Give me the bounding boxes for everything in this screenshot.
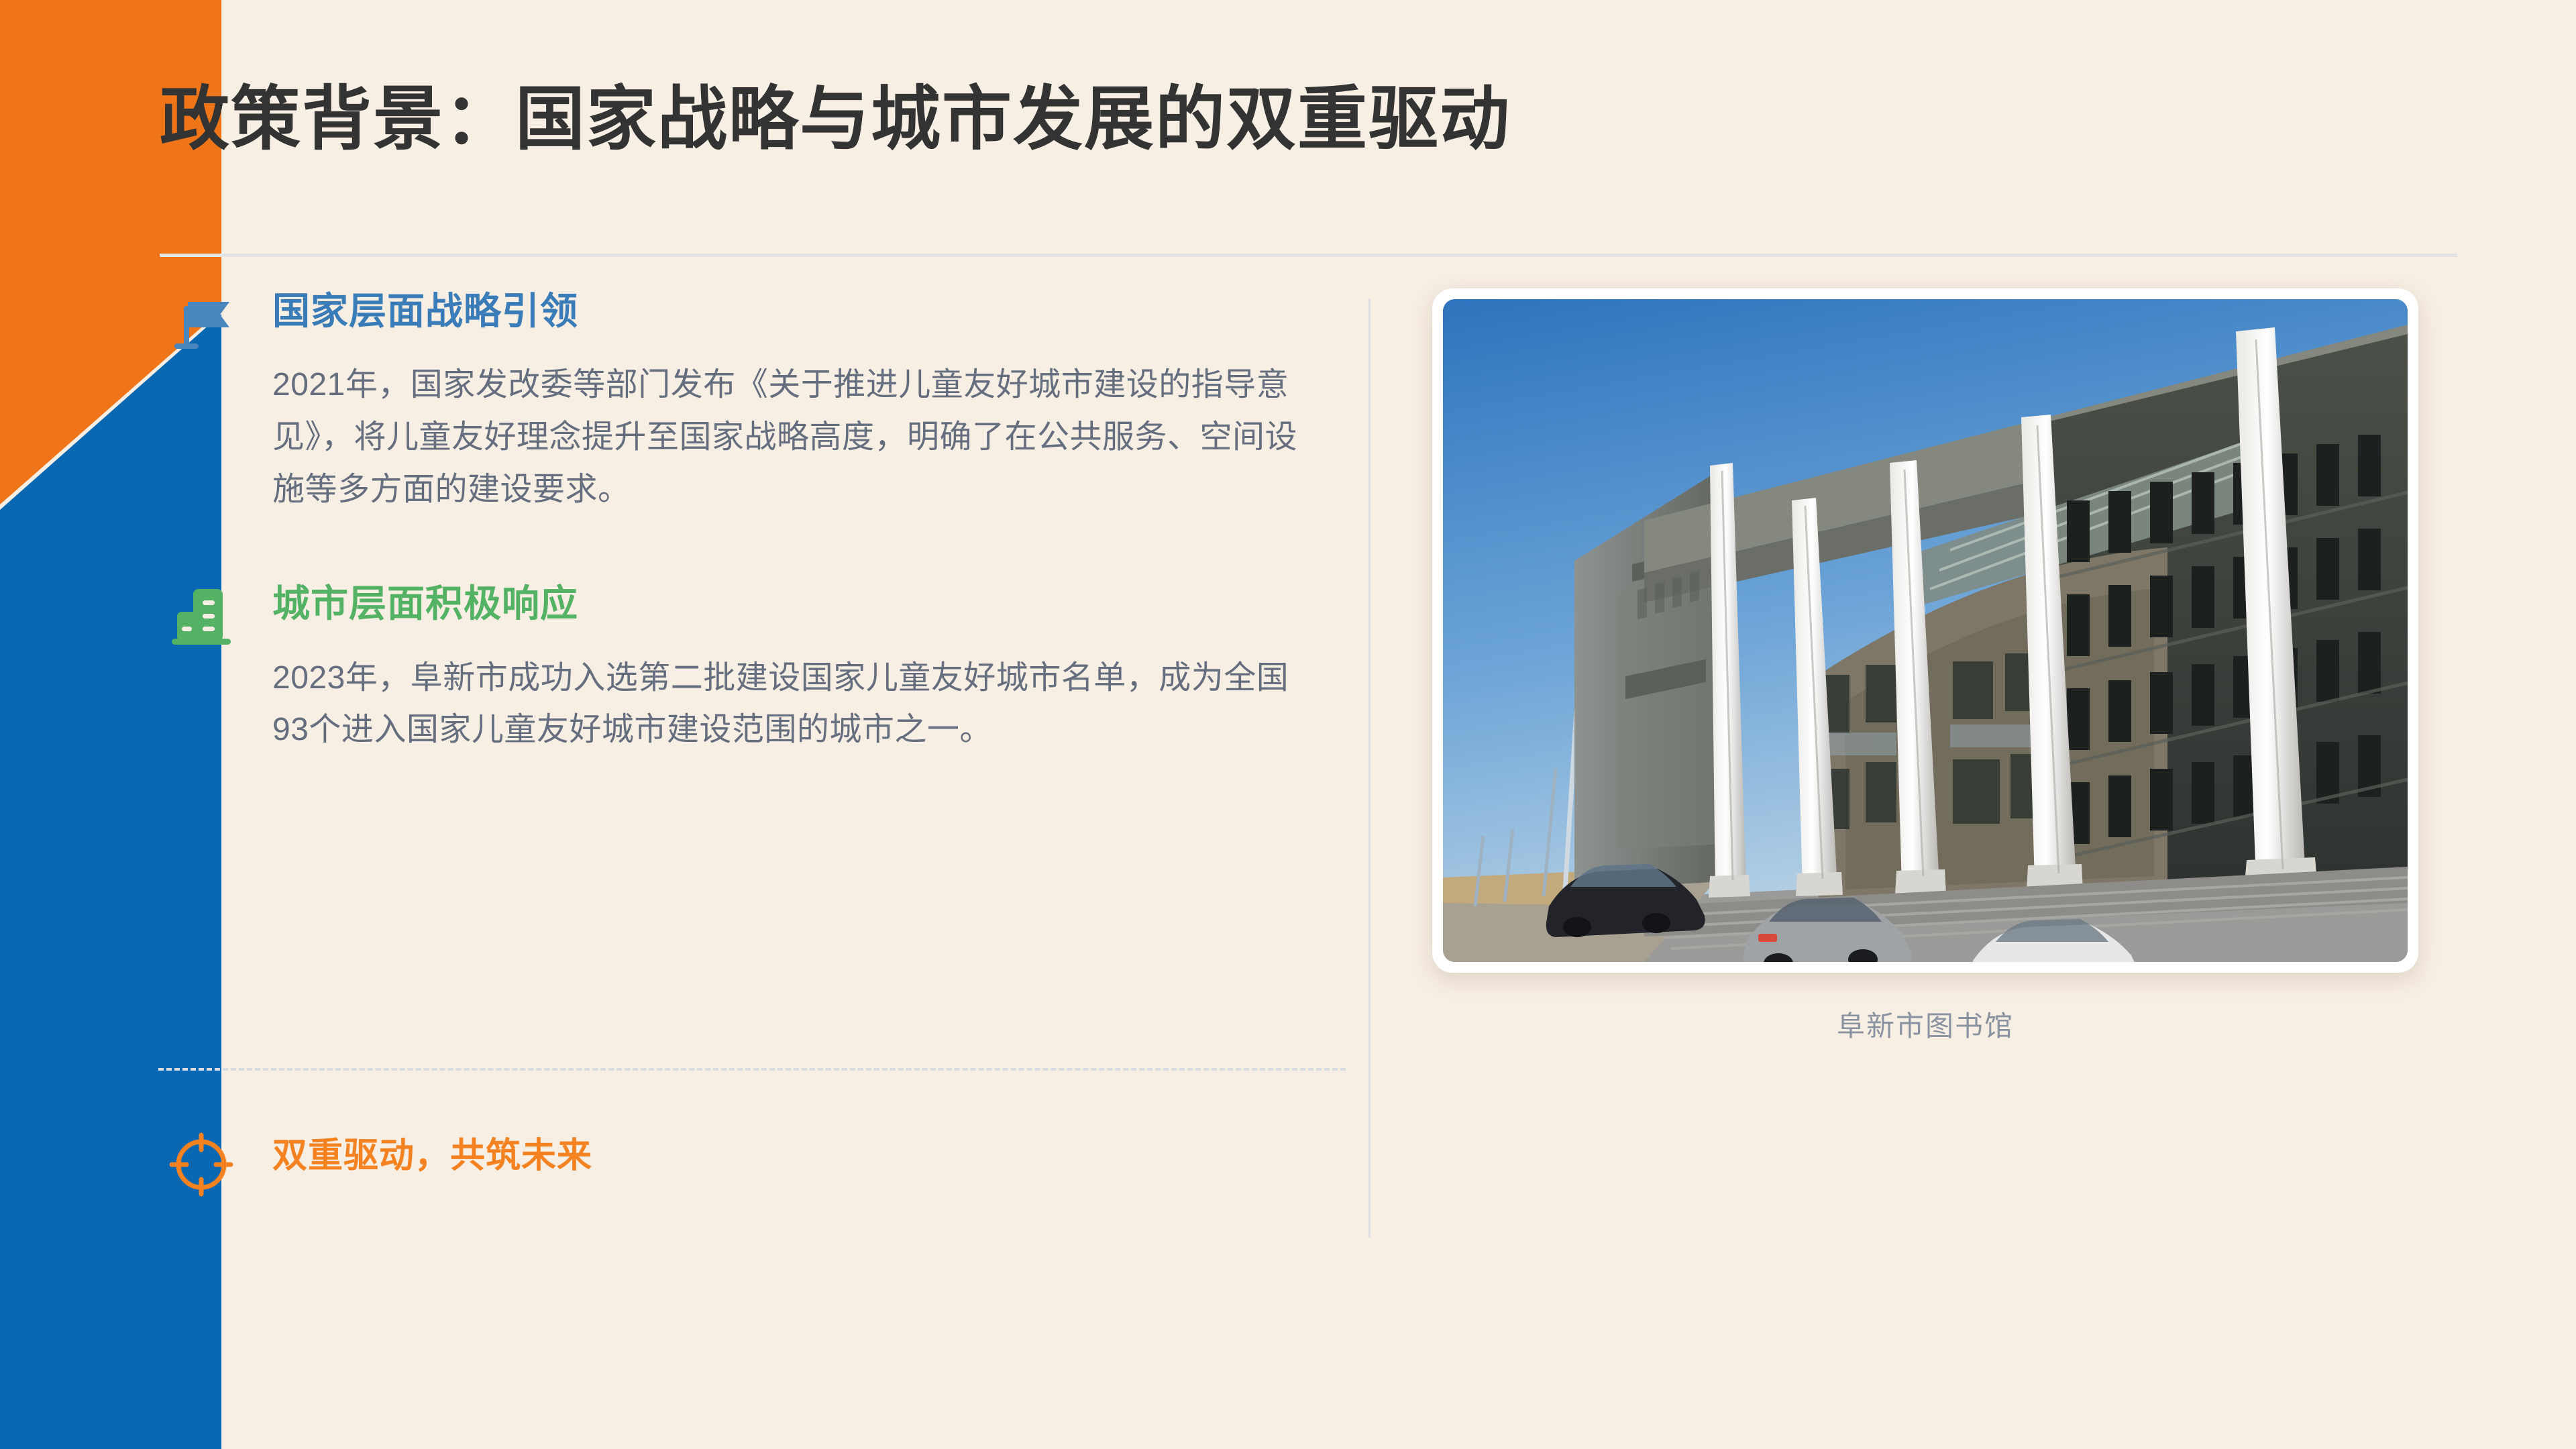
title-underline-rule xyxy=(160,254,2457,257)
point-heading-national: 国家层面战略引领 xyxy=(272,288,1346,333)
point-body-national: 2021年，国家发改委等部门发布《关于推进儿童友好城市建设的指导意见》，将儿童友… xyxy=(272,359,1319,515)
title-block: 政策背景：国家战略与城市发展的双重驱动 xyxy=(160,80,2461,158)
conclusion-block: 双重驱动，共筑未来 xyxy=(272,1135,592,1177)
points-column: 国家层面战略引领 2021年，国家发改委等部门发布《关于推进儿童友好城市建设的指… xyxy=(272,288,1346,822)
library-photo-illustration xyxy=(1443,299,2408,962)
point-body-city: 2023年，阜新市成功入选第二批建设国家儿童友好城市名单，成为全国93个进入国家… xyxy=(272,652,1319,757)
library-photo xyxy=(1443,299,2408,962)
photo-caption: 阜新市图书馆 xyxy=(1432,1004,2418,1044)
photo-card xyxy=(1432,288,2418,973)
content-area: 国家层面战略引领 2021年，国家发改委等部门发布《关于推进儿童友好城市建设的指… xyxy=(0,288,2576,1261)
city-buildings-icon-glyph xyxy=(166,582,236,652)
photo-column: 阜新市图书馆 xyxy=(1432,288,2418,1044)
point-block-national: 国家层面战略引领 2021年，国家发改委等部门发布《关于推进儿童友好城市建设的指… xyxy=(272,288,1346,515)
conclusion-text: 双重驱动，共筑未来 xyxy=(272,1135,592,1177)
flag-icon xyxy=(166,290,236,360)
column-divider xyxy=(1368,299,1371,1238)
flag-icon-glyph xyxy=(166,290,236,360)
dashed-divider xyxy=(158,1068,1346,1071)
point-block-city: 城市层面积极响应 2023年，阜新市成功入选第二批建设国家儿童友好城市名单，成为… xyxy=(272,581,1346,756)
target-crosshair-icon xyxy=(166,1130,236,1199)
target-crosshair-icon-glyph xyxy=(166,1130,236,1199)
page-title: 政策背景：国家战略与城市发展的双重驱动 xyxy=(160,80,2461,158)
point-heading-city: 城市层面积极响应 xyxy=(272,581,1346,626)
city-buildings-icon xyxy=(166,582,236,652)
